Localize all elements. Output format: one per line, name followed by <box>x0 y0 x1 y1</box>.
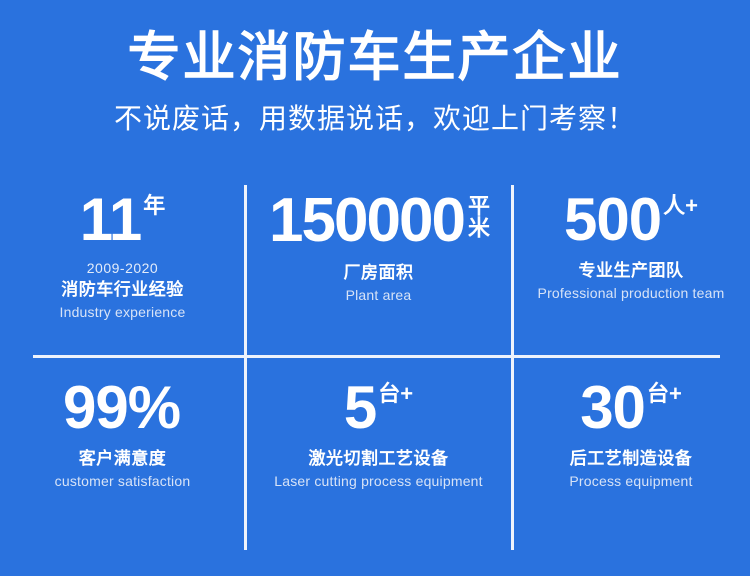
stat-value: 500 人+ <box>564 190 698 250</box>
stat-cell-customer-satisfaction: 99% 客户满意度 customer satisfaction <box>0 356 245 546</box>
stat-unit: 台+ <box>378 383 413 405</box>
stat-value: 11 年 <box>80 190 165 250</box>
stat-label-en: Professional production team <box>538 283 725 303</box>
stat-label-cn: 后工艺制造设备 <box>569 447 692 471</box>
stat-value: 99% <box>63 378 182 438</box>
stat-label-cn: 消防车行业经验 <box>60 278 186 302</box>
stat-label-cn: 厂房面积 <box>344 261 414 285</box>
stat-label-en: Industry experience <box>60 302 186 322</box>
divider-vertical-right <box>511 185 514 550</box>
stat-number: 30 <box>580 378 645 438</box>
stat-caption: 2009-2020 消防车行业经验 Industry experience <box>60 259 186 322</box>
divider-horizontal <box>33 355 720 358</box>
stat-cell-industry-experience: 11 年 2009-2020 消防车行业经验 Industry experien… <box>0 178 245 356</box>
stat-unit: 平米 <box>466 194 488 238</box>
stat-value: 5 台+ <box>344 378 413 438</box>
page-subtitle: 不说废话，用数据说话，欢迎上门考察！ <box>0 89 750 137</box>
divider-vertical-left <box>244 185 247 550</box>
stat-caption: 专业生产团队 Professional production team <box>538 259 725 303</box>
stat-label-cn: 专业生产团队 <box>538 259 725 283</box>
stat-cell-laser-cutting-equipment: 5 台+ 激光切割工艺设备 Laser cutting process equi… <box>245 356 512 546</box>
stat-label-en: Process equipment <box>569 471 692 491</box>
stat-label-en: Plant area <box>344 285 414 305</box>
stat-note: 2009-2020 <box>60 259 186 278</box>
stat-number: 99% <box>63 378 180 438</box>
stat-label-en: customer satisfaction <box>55 471 191 491</box>
stat-number: 500 <box>564 190 661 250</box>
banner-header: 专业消防车生产企业 不说废话，用数据说话，欢迎上门考察！ <box>0 0 750 137</box>
stat-label-cn: 客户满意度 <box>55 447 191 471</box>
stats-grid: 11 年 2009-2020 消防车行业经验 Industry experien… <box>0 178 750 558</box>
stat-number: 5 <box>344 378 376 438</box>
stat-number: 150000 <box>269 190 464 252</box>
stat-value: 30 台+ <box>580 378 682 438</box>
stat-number: 11 <box>80 190 141 250</box>
stat-unit: 人+ <box>663 195 698 217</box>
stat-caption: 后工艺制造设备 Process equipment <box>569 447 692 491</box>
stat-caption: 激光切割工艺设备 Laser cutting process equipment <box>274 447 483 491</box>
stat-unit: 台+ <box>647 383 682 405</box>
stat-label-cn: 激光切割工艺设备 <box>274 447 483 471</box>
stat-cell-plant-area: 150000 平米 厂房面积 Plant area <box>245 178 512 356</box>
stat-caption: 厂房面积 Plant area <box>344 261 414 305</box>
stat-label-en: Laser cutting process equipment <box>274 471 483 491</box>
stat-unit: 年 <box>143 195 165 217</box>
stat-caption: 客户满意度 customer satisfaction <box>55 447 191 491</box>
stat-cell-production-team: 500 人+ 专业生产团队 Professional production te… <box>512 178 750 356</box>
page-title: 专业消防车生产企业 <box>0 0 750 89</box>
stat-cell-process-equipment: 30 台+ 后工艺制造设备 Process equipment <box>512 356 750 546</box>
promo-banner: 专业消防车生产企业 不说废话，用数据说话，欢迎上门考察！ 11 年 2009-2… <box>0 0 750 576</box>
stat-value: 150000 平米 <box>269 190 488 252</box>
